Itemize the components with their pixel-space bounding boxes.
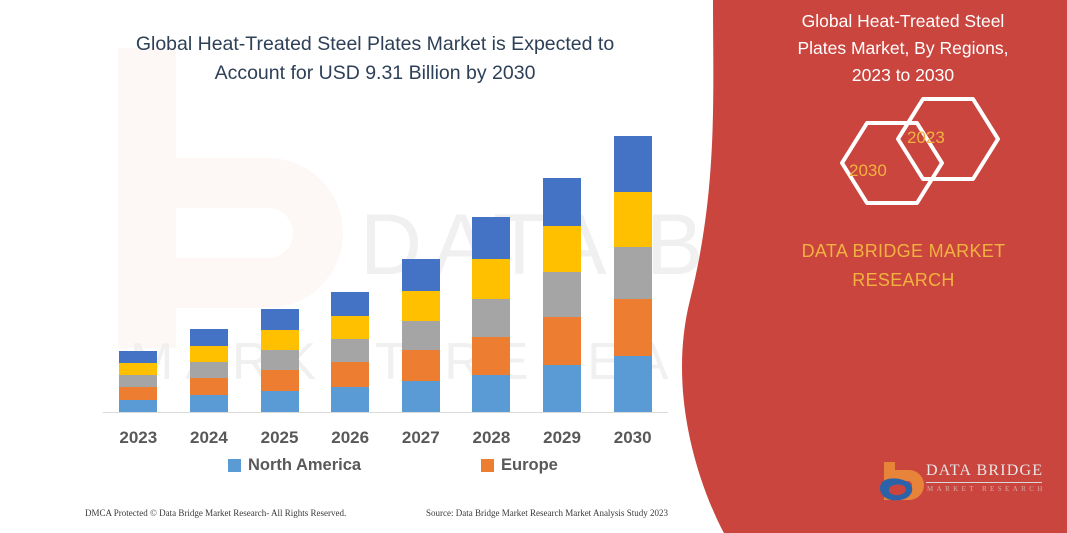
x-axis-label: 2028	[456, 428, 526, 448]
bar-segment	[190, 395, 228, 413]
bar-segment	[472, 259, 510, 299]
legend-label: Europe	[501, 456, 558, 475]
footer: DMCA Protected © Data Bridge Market Rese…	[85, 508, 685, 524]
panel-title-line-3: 2023 to 2030	[753, 62, 1053, 89]
bar-segment	[190, 346, 228, 362]
bar-segment	[614, 299, 652, 356]
chart-title-line-1: Global Heat-Treated Steel Plates Market …	[60, 30, 690, 59]
bar-segment	[614, 192, 652, 247]
panel-title-line-1: Global Heat-Treated Steel	[753, 8, 1053, 35]
bar-segment	[190, 362, 228, 378]
bar-group	[190, 329, 228, 413]
x-axis-label: 2027	[386, 428, 456, 448]
legend-item[interactable]: North America	[228, 456, 361, 475]
bar-segment	[119, 363, 157, 375]
logo-sub-text: MARKET RESEARCH	[927, 485, 1046, 493]
bar-segment	[472, 217, 510, 259]
logo-main-text: DATA BRIDGE	[926, 462, 1043, 480]
bar-segment	[119, 351, 157, 363]
chart-legend: North AmericaEurope	[103, 456, 668, 480]
bar-segment	[543, 178, 581, 226]
infographic-canvas: DATA BRIDGE MARKET RESEARCH Global Heat-…	[0, 0, 1067, 533]
bar-segment	[261, 370, 299, 391]
x-axis-line	[103, 412, 668, 413]
legend-item[interactable]: Europe	[481, 456, 558, 475]
bar-segment	[402, 291, 440, 321]
bar-segment	[543, 226, 581, 272]
bar-group	[402, 259, 440, 413]
brand-line-1: DATA BRIDGE MARKET	[761, 237, 1046, 266]
x-axis-label: 2024	[174, 428, 244, 448]
bar-segment	[543, 365, 581, 413]
x-axis-label: 2030	[598, 428, 668, 448]
hexagon-2023-label: 2023	[907, 128, 945, 148]
bar-segment	[614, 136, 652, 192]
bar-segment	[331, 387, 369, 413]
bar-segment	[331, 292, 369, 316]
bar-segment	[261, 309, 299, 330]
bar-segment	[614, 356, 652, 413]
bar-segment	[331, 339, 369, 362]
bar-segment	[402, 350, 440, 381]
bar-segment	[472, 375, 510, 413]
bar-segment	[190, 378, 228, 395]
bar-group	[331, 292, 369, 413]
stacked-bar-chart	[103, 110, 668, 413]
footer-dmca-text: DMCA Protected © Data Bridge Market Rese…	[85, 508, 346, 518]
bar-segment	[472, 299, 510, 337]
bar-segment	[261, 391, 299, 413]
hexagon-2030-label: 2030	[849, 161, 887, 181]
brand-line-2: RESEARCH	[761, 266, 1046, 295]
hexagon-pair	[805, 95, 1055, 210]
panel-title: Global Heat-Treated Steel Plates Market,…	[753, 8, 1053, 89]
bar-segment	[119, 387, 157, 400]
company-logo: DATA BRIDGE MARKET RESEARCH	[878, 458, 1048, 506]
bar-segment	[543, 317, 581, 365]
bar-segment	[261, 350, 299, 370]
legend-label: North America	[248, 456, 361, 475]
footer-source-text: Source: Data Bridge Market Research Mark…	[426, 508, 668, 518]
bar-segment	[472, 337, 510, 375]
bar-segment	[402, 321, 440, 350]
legend-swatch-icon	[228, 459, 241, 472]
bar-group	[119, 351, 157, 413]
bar-group	[261, 309, 299, 413]
bar-segment	[190, 329, 228, 346]
legend-swatch-icon	[481, 459, 494, 472]
x-axis-label: 2026	[315, 428, 385, 448]
bar-group	[472, 217, 510, 413]
x-axis-labels: 20232024202520262027202820292030	[103, 428, 668, 454]
bar-segment	[543, 272, 581, 317]
panel-title-line-2: Plates Market, By Regions,	[753, 35, 1053, 62]
logo-divider	[926, 482, 1042, 483]
bar-segment	[614, 247, 652, 299]
bar-segment	[261, 330, 299, 350]
x-axis-label: 2025	[245, 428, 315, 448]
bar-segment	[331, 362, 369, 387]
chart-title-line-2: Account for USD 9.31 Billion by 2030	[60, 59, 690, 88]
bar-segment	[402, 381, 440, 413]
panel-content: Global Heat-Treated Steel Plates Market,…	[735, 0, 1067, 533]
bar-group	[543, 178, 581, 413]
chart-title: Global Heat-Treated Steel Plates Market …	[60, 30, 690, 88]
bar-segment	[119, 375, 157, 387]
bar-segment	[402, 259, 440, 291]
logo-mark-icon	[878, 460, 926, 506]
bar-segment	[331, 316, 369, 339]
brand-name: DATA BRIDGE MARKET RESEARCH	[761, 237, 1046, 295]
x-axis-label: 2029	[527, 428, 597, 448]
x-axis-label: 2023	[103, 428, 173, 448]
bar-group	[614, 136, 652, 413]
